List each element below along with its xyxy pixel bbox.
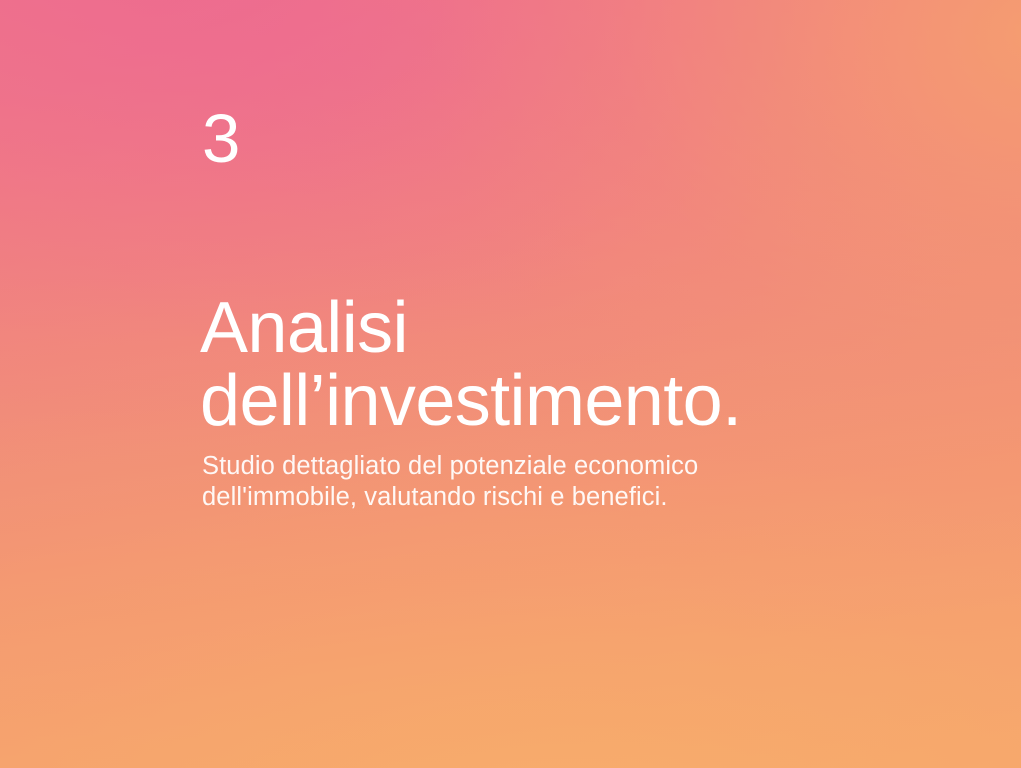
- page-title: Analisi dell’investimento.: [200, 292, 741, 438]
- section-number: 3: [202, 104, 241, 173]
- presentation-slide: 3 Analisi dell’investimento. Studio dett…: [0, 0, 1021, 768]
- slide-subtitle: Studio dettagliato del potenziale econom…: [202, 451, 698, 513]
- slide-content: 3 Analisi dell’investimento. Studio dett…: [202, 0, 902, 768]
